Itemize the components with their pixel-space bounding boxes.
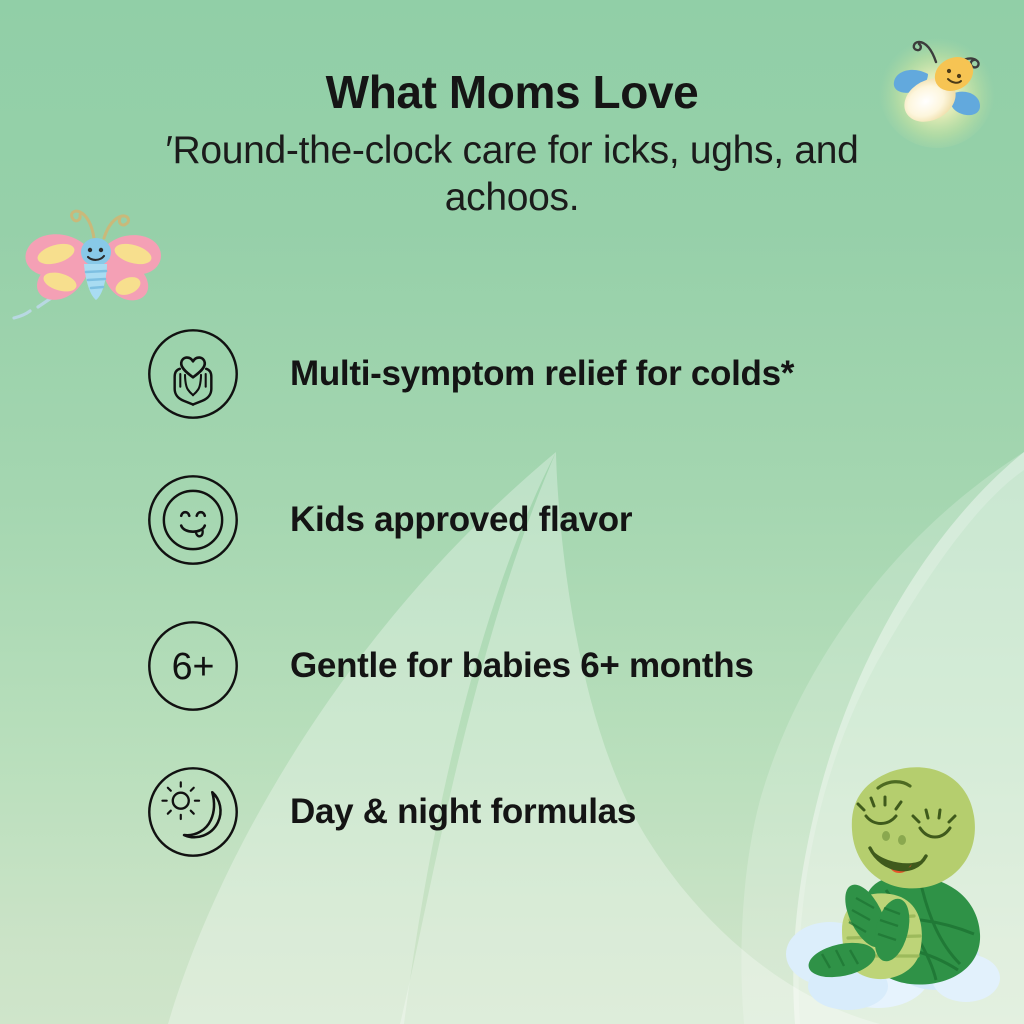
feature-label: Day & night formulas bbox=[290, 792, 636, 832]
page-title: What Moms Love bbox=[0, 68, 1024, 118]
header-block: What Moms Love ′Round-the-clock care for… bbox=[0, 68, 1024, 222]
feature-item-kids-flavor: Kids approved flavor bbox=[146, 472, 946, 568]
hands-holding-heart-icon bbox=[146, 327, 240, 421]
turtle-belly bbox=[842, 893, 922, 979]
feature-item-day-night: Day & night formulas bbox=[146, 764, 946, 860]
smiley-tongue-icon bbox=[146, 473, 240, 567]
feature-item-age-six-plus: 6+ Gentle for babies 6+ months bbox=[146, 618, 946, 714]
cloud-shape bbox=[786, 916, 1000, 1010]
feature-item-multi-symptom: Multi-symptom relief for colds* bbox=[146, 326, 946, 422]
sun-moon-icon bbox=[146, 765, 240, 859]
feature-list: Multi-symptom relief for colds* Kids app… bbox=[146, 326, 946, 860]
feature-label: Gentle for babies 6+ months bbox=[290, 646, 754, 686]
feature-label: Kids approved flavor bbox=[290, 500, 632, 540]
page-subtitle: ′Round-the-clock care for icks, ughs, an… bbox=[132, 127, 892, 222]
promo-banner: What Moms Love ′Round-the-clock care for… bbox=[0, 0, 1024, 1024]
turtle-shell bbox=[860, 876, 980, 984]
six-plus-age-icon: 6+ bbox=[146, 619, 240, 713]
feature-label: Multi-symptom relief for colds* bbox=[290, 354, 794, 394]
age-badge-text: 6+ bbox=[172, 645, 215, 687]
